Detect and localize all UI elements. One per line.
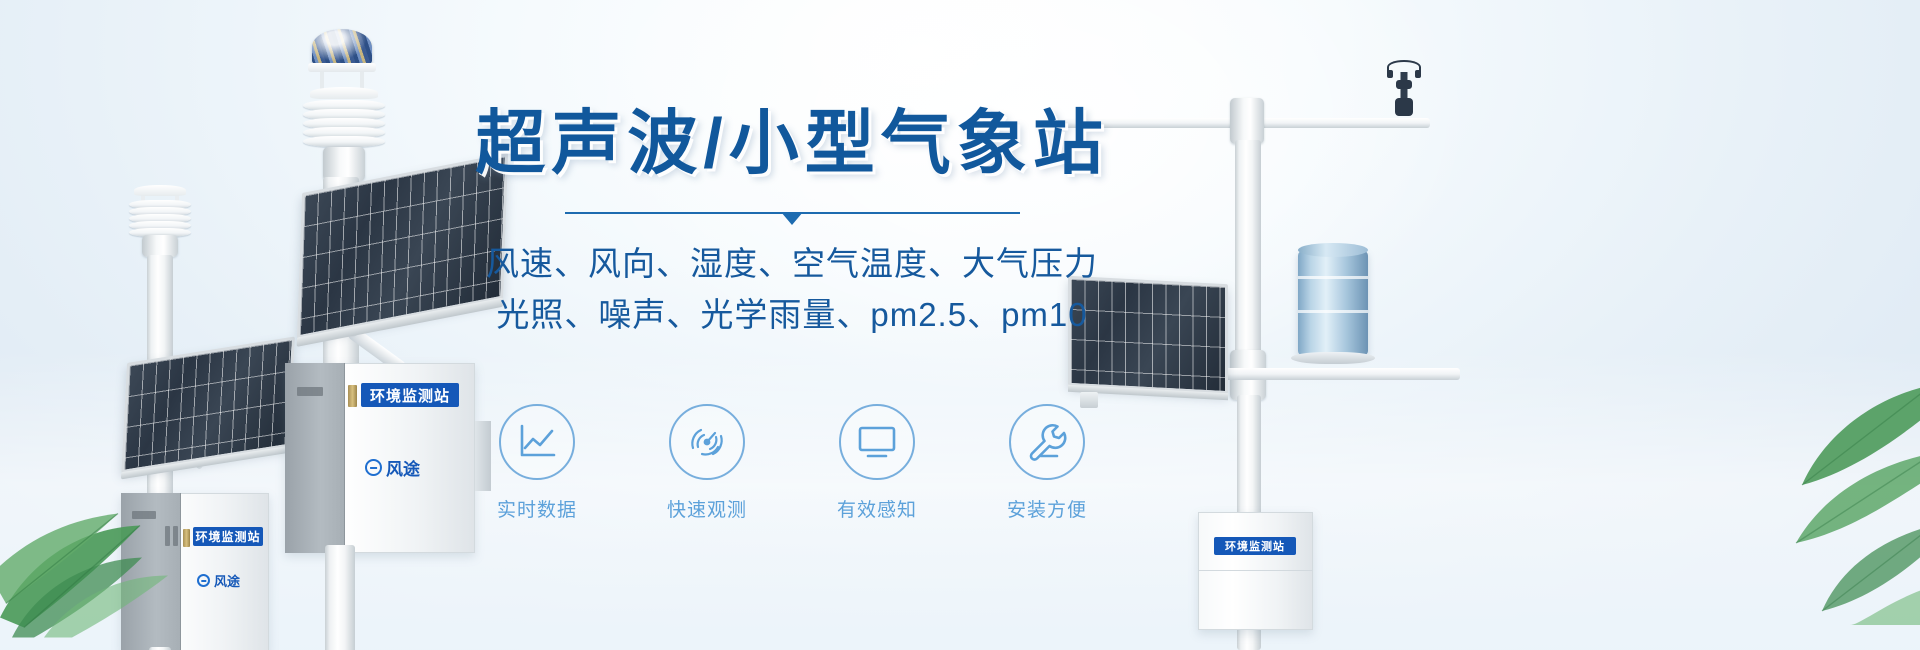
mast-base-large	[325, 545, 355, 650]
optical-rain-sensor-icon	[312, 29, 372, 65]
feature-icon-circle	[839, 404, 915, 480]
wrench-icon	[1027, 422, 1067, 462]
feature-label: 安装方便	[987, 495, 1107, 522]
cabinet-label-small: 环境监测站	[193, 527, 263, 546]
brand-logo-large: 风途	[365, 455, 420, 480]
cabinet-seam	[1198, 570, 1313, 571]
subtitle-line-1: 风速、风向、湿度、空气温度、大气压力	[452, 238, 1132, 289]
feature-item-easy-install[interactable]: 安装方便	[987, 404, 1107, 522]
rain-gauge	[1298, 250, 1368, 355]
cabinet-label-large: 环境监测站	[361, 383, 459, 407]
subtitle-list: 风速、风向、湿度、空气温度、大气压力 光照、噪声、光学雨量、pm2.5、pm10	[452, 238, 1132, 340]
feature-item-effective-sensing[interactable]: 有效感知	[817, 404, 937, 522]
feature-item-realtime-data[interactable]: 实时数据	[477, 404, 597, 522]
feature-list: 实时数据 快速观测	[452, 404, 1132, 522]
feature-item-fast-observation[interactable]: 快速观测	[647, 404, 767, 522]
headline-block: 超声波/小型气象站 风速、风向、湿度、空气温度、大气压力 光照、噪声、光学雨量、…	[452, 108, 1132, 340]
brand-name: 风途	[386, 455, 420, 480]
feature-label: 实时数据	[477, 495, 597, 522]
mast-vertical	[1235, 140, 1261, 365]
feature-icon-circle	[1009, 404, 1085, 480]
foliage-right	[1674, 300, 1920, 650]
page-title: 超声波/小型气象站	[452, 108, 1132, 178]
brand-mark-icon	[365, 459, 382, 476]
control-cabinet-small: 环境监测站 风途	[121, 493, 269, 650]
subtitle-line-2: 光照、噪声、光学雨量、pm2.5、pm10	[452, 289, 1132, 340]
radiation-shield-large	[303, 87, 385, 149]
brand-logo-small: 风途	[197, 571, 240, 590]
caret-down-icon	[781, 212, 803, 225]
ultrasonic-anemometer-icon	[1387, 60, 1421, 122]
feature-icon-circle	[499, 404, 575, 480]
feature-label: 有效感知	[817, 495, 937, 522]
brand-mark-icon	[197, 574, 210, 587]
sensor-collar-small	[142, 235, 178, 257]
dome-ring	[308, 63, 376, 72]
cabinet-label-mast: 环境监测站	[1214, 537, 1296, 555]
brand-name: 风途	[214, 571, 240, 590]
title-divider	[565, 212, 1020, 214]
radar-sensor-icon	[687, 422, 727, 462]
line-chart-icon	[517, 423, 557, 461]
monitor-icon	[856, 424, 898, 460]
feature-label: 快速观测	[647, 495, 767, 522]
control-cabinet-mast: 环境监测站	[1198, 512, 1313, 630]
sensor-collar-large	[323, 147, 365, 181]
upper-arm-collar	[1230, 98, 1264, 144]
radiation-shield-small	[129, 185, 191, 237]
feature-icon-circle	[669, 404, 745, 480]
weather-station-banner: 环境监测站 风途	[0, 0, 1920, 650]
control-cabinet-large: 环境监测站 风途	[285, 363, 475, 553]
